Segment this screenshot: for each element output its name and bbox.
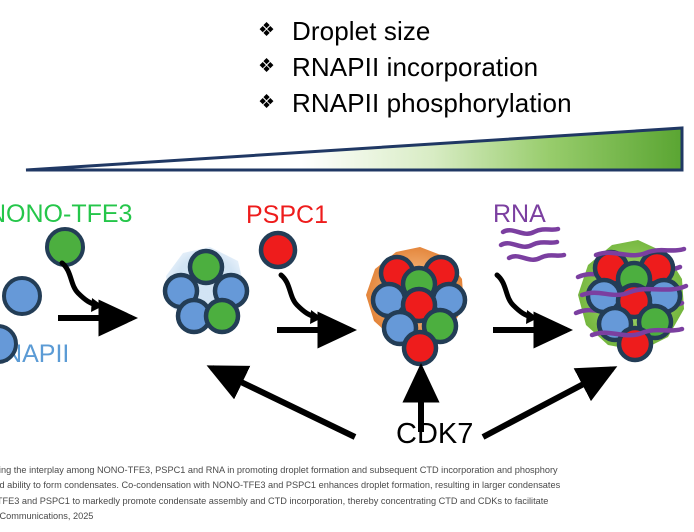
cdk7-arrow-left — [212, 368, 355, 437]
nono-tfe3-monomer — [47, 229, 83, 265]
caption-line-4: on. Nature Communications, 2025 — [0, 509, 694, 524]
transition-arrow-1 — [58, 263, 132, 318]
diagram-canvas: ❖ Droplet size ❖ RNAPII incorporation ❖ … — [0, 0, 694, 532]
nono-tfe3-circle — [190, 251, 222, 283]
increasing-gradient-wedge — [22, 124, 686, 176]
bullet-label-droplet-size: Droplet size — [292, 14, 430, 48]
rna-strands-free — [501, 229, 564, 260]
stage-free-monomers — [0, 229, 83, 362]
caption-line-1: gram showing the interplay among NONO-TF… — [0, 463, 694, 478]
highlight-bullet-list: ❖ Droplet size ❖ RNAPII incorporation ❖ … — [258, 14, 688, 122]
transition-arrow-3 — [493, 275, 567, 330]
rnapii-monomer — [4, 278, 40, 314]
diamond-cluster-bullet-icon: ❖ — [258, 86, 292, 120]
nono-tfe3-circle — [206, 300, 238, 332]
pspc1-circle — [404, 332, 436, 364]
caption-line-3: ith NONO-TFE3 and PSPC1 to markedly prom… — [0, 494, 694, 509]
list-item: ❖ Droplet size — [258, 14, 688, 50]
rnapii-monomer — [0, 326, 16, 362]
diamond-cluster-bullet-icon: ❖ — [258, 14, 292, 48]
cdk7-arrow-group — [212, 368, 612, 437]
stage-blue-condensate — [165, 247, 247, 332]
bullet-label-rnapii-phosphorylation: RNAPII phosphorylation — [292, 86, 572, 120]
pspc1-monomer — [261, 233, 295, 267]
diamond-cluster-bullet-icon: ❖ — [258, 50, 292, 84]
bullet-label-rnapii-incorporation: RNAPII incorporation — [292, 50, 538, 84]
transition-arrow-2 — [277, 275, 351, 330]
figure-caption: gram showing the interplay among NONO-TF… — [0, 463, 694, 524]
stage-orange-condensate — [366, 247, 465, 364]
caption-line-2: hibits limited ability to form condensat… — [0, 478, 694, 493]
condensate-pathway-schematic — [0, 185, 694, 485]
list-item: ❖ RNAPII phosphorylation — [258, 86, 688, 122]
stage-green-rna-condensate — [576, 240, 686, 360]
cdk7-arrow-right — [483, 369, 612, 437]
list-item: ❖ RNAPII incorporation — [258, 50, 688, 86]
